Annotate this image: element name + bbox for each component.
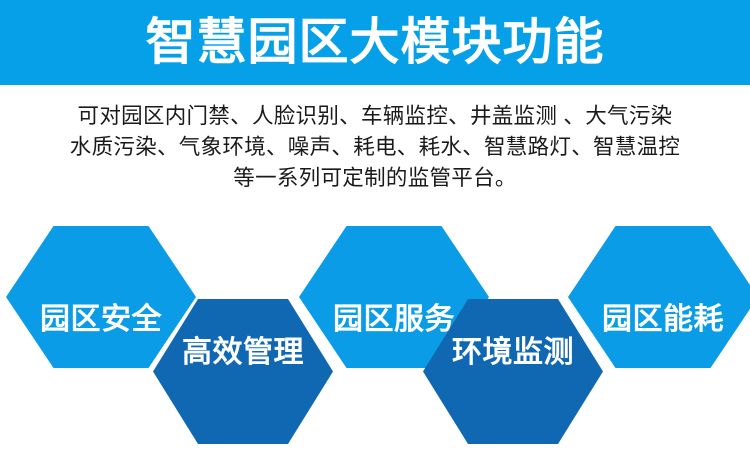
hexagon-label-park-energy: 园区能耗 [602, 305, 724, 335]
infographic-page: 智慧园区大模块功能 可对园区内门禁、人脸识别、车辆监控、井盖监测 、大气污染 水… [0, 0, 750, 470]
hexagon-label-environment-monitoring: 环境监测 [452, 338, 574, 368]
hexagon-label-efficient-management: 高效管理 [182, 338, 304, 368]
module-hexagon-cluster: 园区安全 高效管理 园区服务 环境监测 园区能耗 [0, 0, 750, 470]
hexagon-module-park-security[interactable]: 园区安全 [6, 226, 196, 368]
hexagon-module-park-energy[interactable]: 园区能耗 [568, 226, 750, 368]
hexagon-label-park-service: 园区服务 [333, 305, 455, 335]
hexagon-label-park-security: 园区安全 [40, 305, 162, 335]
